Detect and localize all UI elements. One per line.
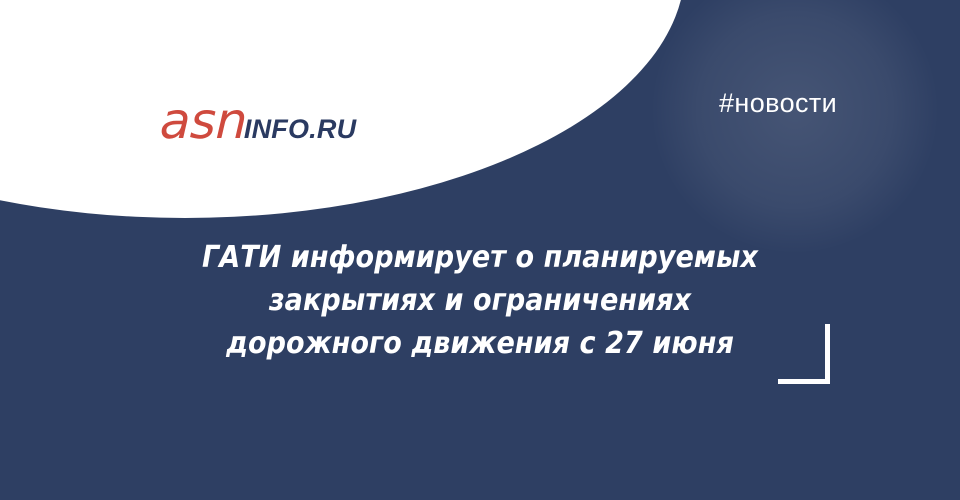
news-banner: asn INFO.RU #новости ГАТИ информирует о … [0, 0, 960, 500]
corner-bracket-icon [778, 324, 830, 384]
hashtag-label: #новости [719, 88, 837, 119]
logo-primary-text: asn [159, 96, 248, 146]
headline-line-3: дорожного движения с 27 июня [110, 322, 850, 365]
headline-line-2: закрытиях и ограничениях [110, 279, 850, 322]
headline-line-1: ГАТИ информирует о планируемых [110, 236, 850, 279]
asninfo-ru-logo[interactable]: asn INFO.RU [160, 96, 356, 148]
corner-bracket-horizontal [778, 379, 830, 384]
headline: ГАТИ информирует о планируемых закрытиях… [110, 236, 850, 365]
corner-bracket-vertical [825, 324, 830, 384]
logo-secondary-text: INFO.RU [244, 116, 356, 143]
